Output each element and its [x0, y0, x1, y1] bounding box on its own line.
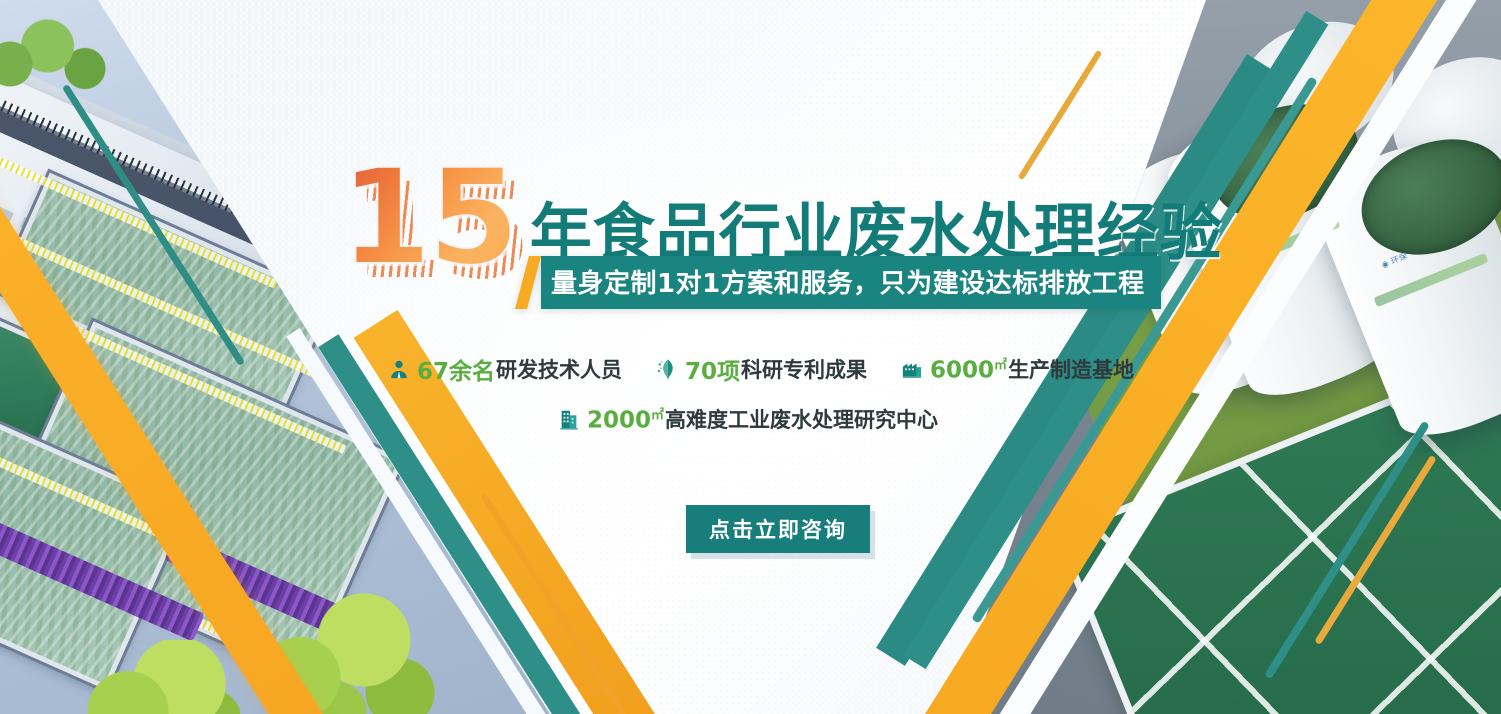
feature-row-2: 2000㎡ 高难度工业废水处理研究中心 — [388, 404, 1108, 434]
building-icon — [558, 408, 580, 430]
feature-number: 70项 — [685, 352, 740, 386]
feature-label: 科研专利成果 — [741, 354, 867, 384]
consult-now-button[interactable]: 点击立即咨询 — [686, 505, 870, 553]
feature-label: 生产制造基地 — [1008, 354, 1134, 384]
subtitle-text: 量身定制1对1方案和服务，只为建设达标排放工程 — [541, 256, 1161, 309]
feature-item-staff: 67余名 研发技术人员 — [388, 352, 622, 386]
years-number: 15 — [340, 141, 516, 295]
feature-list: 67余名 研发技术人员 70项 — [388, 352, 1108, 434]
user-icon — [388, 358, 410, 380]
feature-number: 2000㎡ — [587, 404, 664, 434]
feature-row-1: 67余名 研发技术人员 70项 — [388, 352, 1108, 386]
feature-number: 6000㎡ — [930, 354, 1007, 384]
factory-icon — [901, 358, 923, 380]
feature-label: 研发技术人员 — [496, 354, 622, 384]
banner-content: 15 15 15 年食品行业废水处理经验 量身定制1对1方案和服务，只为建设达标… — [0, 0, 1501, 714]
feature-item-patents: 70项 科研专利成果 — [656, 352, 867, 386]
feature-number: 67余名 — [417, 352, 495, 386]
leaf-drop-icon — [656, 358, 678, 380]
hero-banner: ◉ 环保 ◉ 环保 15 15 15 年食品行业废水处理经验 量身定制1对1方案… — [0, 0, 1501, 714]
subtitle-banner: 量身定制1对1方案和服务，只为建设达标排放工程 — [515, 256, 1161, 309]
subtitle-orange-slash — [515, 256, 541, 309]
feature-label: 高难度工业废水处理研究中心 — [665, 404, 938, 434]
feature-item-factory: 6000㎡ 生产制造基地 — [901, 354, 1134, 384]
feature-item-research-center: 2000㎡ 高难度工业废水处理研究中心 — [558, 404, 938, 434]
years-number-wrap: 15 15 15 — [340, 152, 516, 284]
